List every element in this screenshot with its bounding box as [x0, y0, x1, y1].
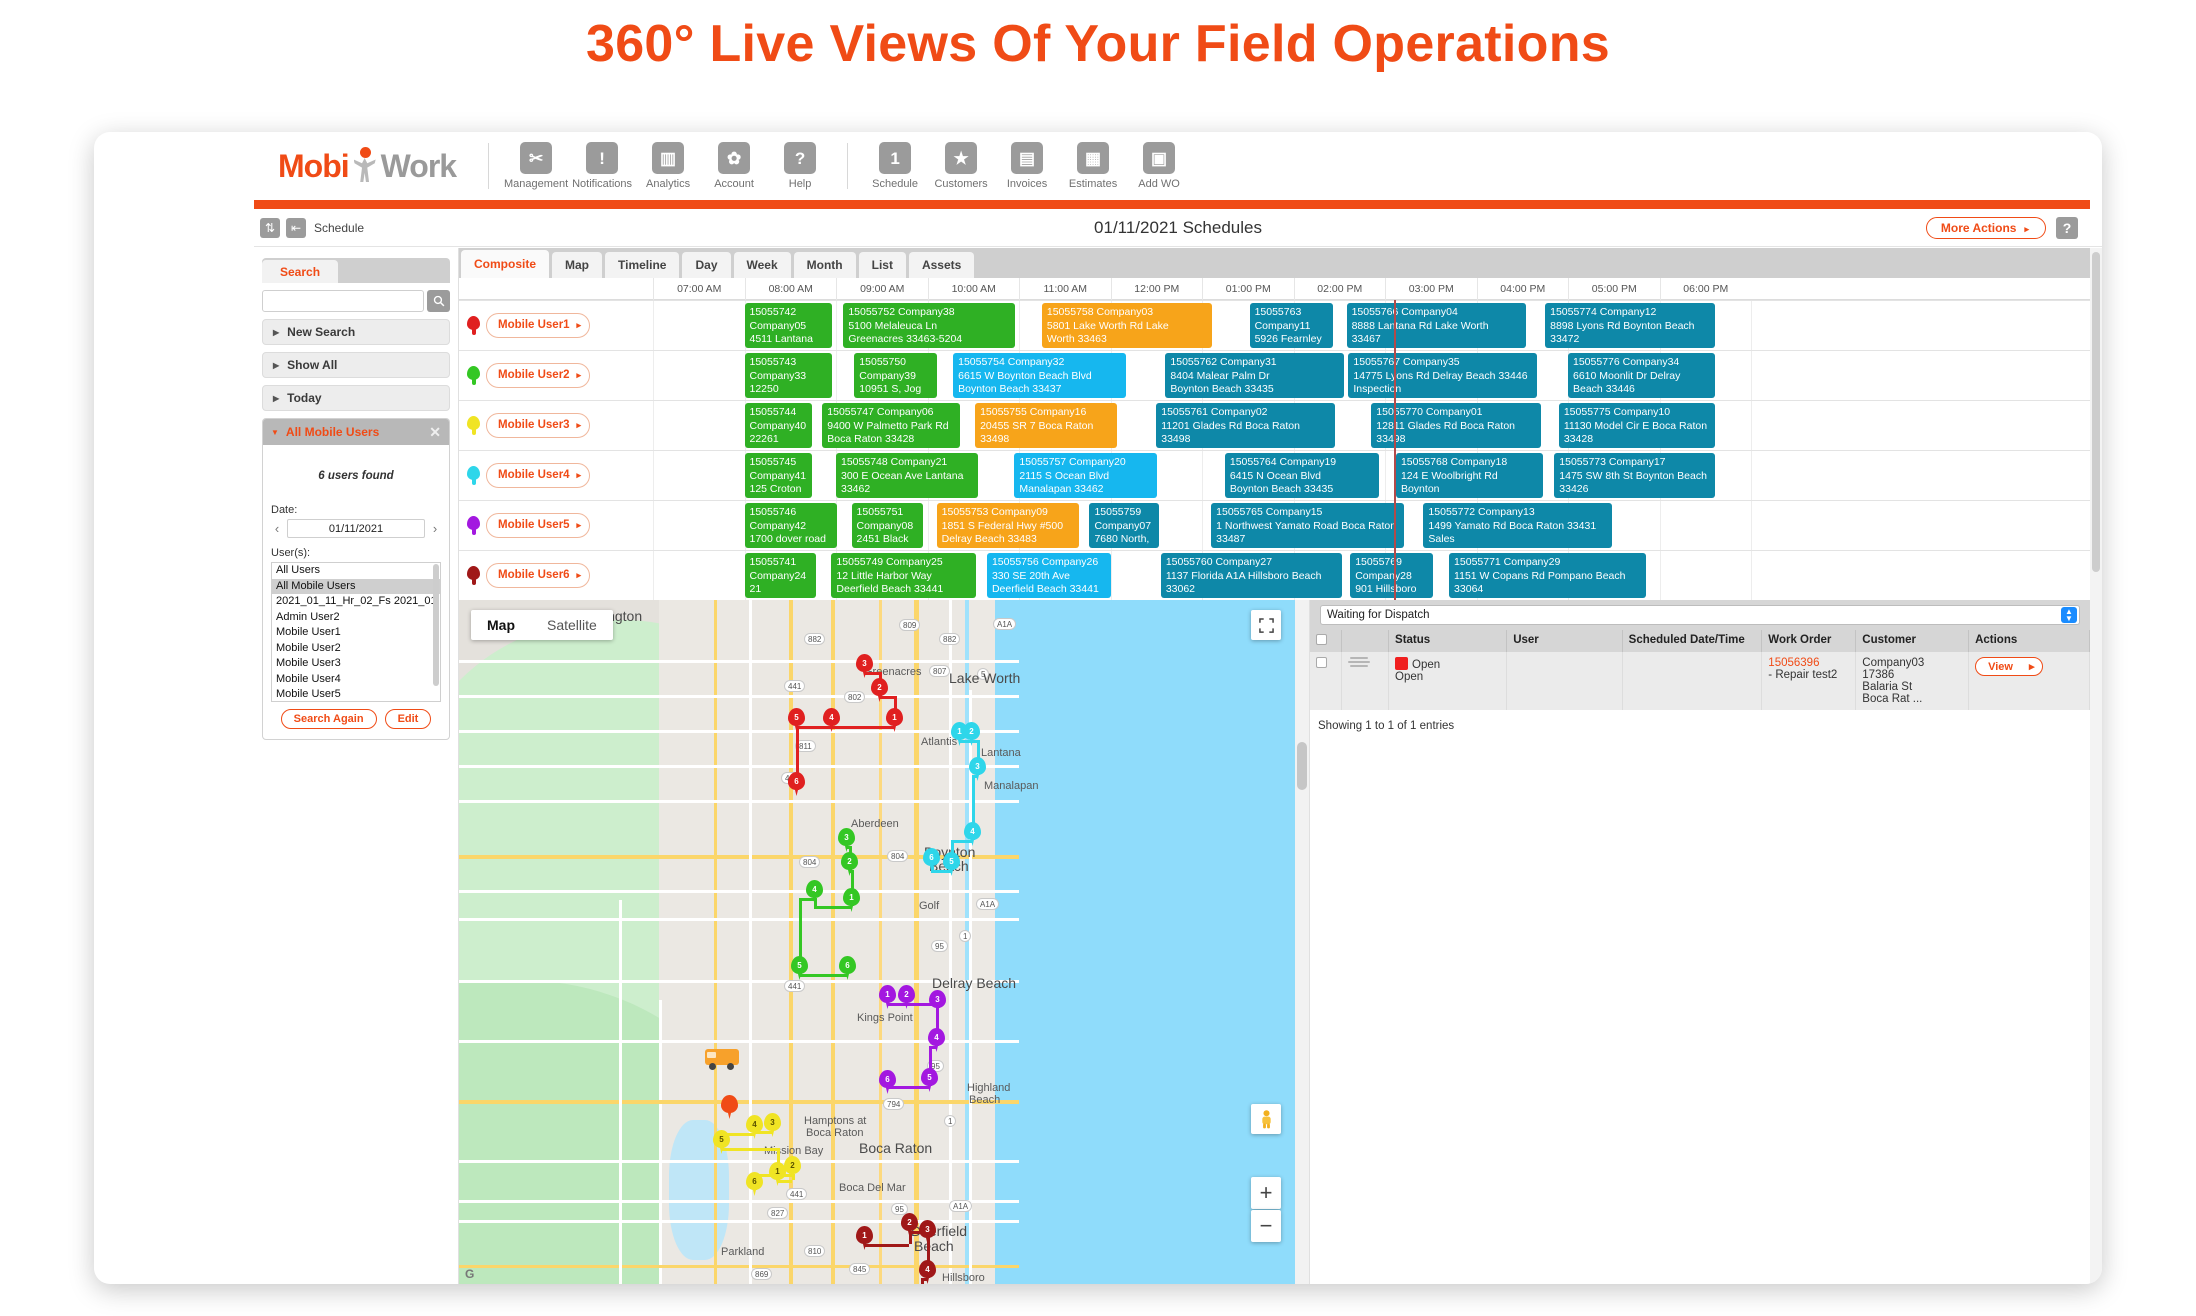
- user-row-header: Mobile User1▸: [459, 300, 607, 350]
- user-button-mobileuser5[interactable]: Mobile User5▸: [486, 513, 590, 538]
- hour-label: 10:00 AM: [928, 278, 1020, 300]
- schedule-block-line: 15055761 Company02: [1161, 406, 1330, 420]
- schedule-block-line: Deerfield Beach 33441: [836, 583, 970, 597]
- pegman-icon[interactable]: [1251, 1104, 1281, 1134]
- nav-item-label: Management: [504, 178, 568, 190]
- nav-group-admin: ✂Management!Notifications▥Analytics✿Acco…: [503, 142, 833, 190]
- map-place-label: Parkland: [721, 1246, 764, 1258]
- map-pin-6[interactable]: 6: [923, 848, 940, 872]
- map-route-shield: 804: [887, 850, 908, 862]
- map-pin-2[interactable]: 2: [784, 1156, 801, 1180]
- user-name: Mobile User4: [498, 469, 570, 481]
- schedule-block-line: 11201 Glades Rd Boca Raton: [1161, 420, 1330, 434]
- zoom-out-button[interactable]: −: [1251, 1210, 1281, 1242]
- schedule-block-line: 15055756 Company26: [992, 556, 1106, 570]
- schedule-block-line: 12 Little Harbor Way: [836, 570, 970, 584]
- schedule-block-line: 1475 SW 8th St Boynton Beach 33426: [1559, 470, 1710, 497]
- schedule-block-15055742[interactable]: 15055742Company054511 Lantana Rd: [745, 303, 833, 348]
- schedule-tabs: CompositeMapTimelineDayWeekMonthListAsse…: [459, 248, 2090, 278]
- search-panel: Search ▶New Search▶Show All▶Today ▼ All …: [254, 248, 459, 1284]
- schedule-block-15055752[interactable]: 15055752 Company385100 Melaleuca LnGreen…: [843, 303, 1015, 348]
- user-button-mobileuser2[interactable]: Mobile User2▸: [486, 363, 590, 388]
- nav-item-invoices[interactable]: ▤Invoices: [994, 142, 1060, 190]
- schedule-block-15055775[interactable]: 15055775 Company1011130 Model Cir E Boca…: [1559, 403, 1715, 448]
- schedule-block-15055751[interactable]: 15055751Company082451 Black: [852, 503, 923, 548]
- schedule-block-15055771[interactable]: 15055771 Company291151 W Copans Rd Pompa…: [1449, 553, 1646, 598]
- map-pin-1[interactable]: 1: [886, 708, 903, 732]
- map-road: [459, 890, 1019, 893]
- schedule-block-line: Beach 33446: [1573, 383, 1710, 397]
- map-pin-2[interactable]: 2: [871, 678, 888, 702]
- more-actions-label: More Actions: [1941, 221, 2017, 235]
- section-header-all-mobile-users[interactable]: ▼ All Mobile Users ✕: [263, 419, 449, 445]
- map-pin-icon: [467, 416, 480, 435]
- map-pin-icon: [467, 316, 480, 335]
- schedule-block-line: 15055751: [857, 506, 918, 520]
- user-option[interactable]: Mobile User1: [272, 625, 440, 641]
- map-route-shield: A1A: [949, 1200, 972, 1212]
- search-again-button[interactable]: Search Again: [281, 709, 377, 729]
- map-pin-3[interactable]: 3: [764, 1113, 781, 1137]
- map-road: [459, 765, 1019, 768]
- map-road: [714, 600, 717, 1284]
- map-pin-6[interactable]: 6: [839, 956, 856, 980]
- nav-item-account[interactable]: ✿Account: [701, 142, 767, 190]
- nav-divider-2: [847, 143, 848, 189]
- tab-map[interactable]: Map: [552, 252, 602, 278]
- user-row-header: Mobile User4▸: [459, 450, 607, 500]
- tab-timeline[interactable]: Timeline: [605, 252, 679, 278]
- dispatch-column-header: [1310, 630, 1342, 652]
- map-pin-3[interactable]: 3: [856, 654, 873, 678]
- map-pin-3[interactable]: 3: [929, 990, 946, 1014]
- map-road: [459, 660, 1019, 663]
- date-prev-icon[interactable]: ‹: [271, 521, 283, 536]
- calculator-icon: ▦: [1077, 142, 1109, 174]
- map-barrier-island: [969, 600, 995, 1284]
- map-pin-3[interactable]: 3: [969, 757, 986, 781]
- map-pin-4[interactable]: 4: [806, 880, 823, 904]
- grid-hline: [459, 400, 2090, 401]
- hour-label: 11:00 AM: [1019, 278, 1111, 300]
- hour-label: 09:00 AM: [836, 278, 928, 300]
- schedule-block-line: 901 Hillsboro Mile: [1355, 583, 1428, 598]
- schedule-block-line: 15055764 Company19: [1230, 456, 1374, 470]
- search-icon[interactable]: [427, 290, 450, 312]
- map-pin-1[interactable]: 1: [843, 888, 860, 912]
- dispatch-column-header: Work Order: [1762, 630, 1856, 652]
- map-road: [459, 730, 1019, 733]
- map-pin-icon: [467, 566, 480, 585]
- map-route-shield: 809: [899, 619, 920, 631]
- schedule-block-line: Inspection: [1353, 383, 1531, 397]
- nav-item-analytics[interactable]: ▥Analytics: [635, 142, 701, 190]
- schedule-block-line: 33498: [1161, 433, 1330, 447]
- map-scrollbar[interactable]: [1295, 600, 1309, 1284]
- triangle-down-icon: ▼: [271, 428, 279, 437]
- schedule-block-line: 15055773 Company17: [1559, 456, 1710, 470]
- map-pin-4[interactable]: 4: [823, 708, 840, 732]
- schedule-block-15055746[interactable]: 15055746Company421700 dover road: [745, 503, 837, 548]
- schedule-block-line: 15055768 Company18: [1401, 456, 1538, 470]
- table-row[interactable]: OpenOpen15056396- Repair test2Company031…: [1310, 652, 2090, 710]
- schedule-block-line: Boca Raton 33428: [827, 433, 955, 447]
- schedule-block-line: 15055770 Company01: [1376, 406, 1536, 420]
- dispatch-column-header: User: [1507, 630, 1622, 652]
- schedule-block-line: 1851 S Federal Hwy #500: [942, 520, 1074, 534]
- schedule-block-line: 8404 Malear Palm Dr: [1170, 370, 1339, 384]
- question-icon: ?: [784, 142, 816, 174]
- schedule-block-line: 12811 Glades Rd Boca Raton: [1376, 420, 1536, 434]
- schedule-block-15055776[interactable]: 15055776 Company346610 Moonlit Dr Delray…: [1568, 353, 1715, 398]
- actions-cell: View▸: [1969, 652, 2090, 710]
- work-order-link[interactable]: 15056396: [1768, 657, 1819, 669]
- accordion-new-search[interactable]: ▶New Search: [262, 319, 450, 345]
- nav-item-label: Estimates: [1069, 178, 1117, 190]
- schedule-block-line: 1499 Yamato Rd Boca Raton 33431: [1428, 520, 1606, 534]
- date-input[interactable]: 01/11/2021: [287, 519, 425, 538]
- schedule-block-15055765[interactable]: 15055765 Company151 Northwest Yamato Roa…: [1211, 503, 1404, 548]
- user-option[interactable]: All Mobile Users: [272, 579, 440, 595]
- schedule-block-15055748[interactable]: 15055748 Company21300 E Ocean Ave Lantan…: [836, 453, 978, 498]
- chevron-right-icon: ▸: [576, 420, 581, 431]
- map-road: [459, 918, 1019, 921]
- schedule-block-line: 15055747 Company06: [827, 406, 955, 420]
- user-option[interactable]: Mobile User4: [272, 672, 440, 688]
- schedule-block-15055754[interactable]: 15055754 Company326615 W Boynton Beach B…: [953, 353, 1126, 398]
- schedule-block-15055772[interactable]: 15055772 Company131499 Yamato Rd Boca Ra…: [1423, 503, 1611, 548]
- map-type-satellite[interactable]: Satellite: [531, 610, 613, 640]
- schedule-block-15055755[interactable]: 15055755 Company1620455 SR 7 Boca Raton3…: [975, 403, 1117, 448]
- schedule-block-line: 15055772 Company13: [1428, 506, 1606, 520]
- map-place-label: Delray Beach: [932, 975, 1016, 991]
- map-pin-6[interactable]: 6: [746, 1172, 763, 1196]
- map-route-shield: 810: [804, 1245, 825, 1257]
- schedule-block-15055764[interactable]: 15055764 Company196415 N Ocean BlvdBoynt…: [1225, 453, 1379, 498]
- schedule-block-line: 5926 Fearnley: [1255, 333, 1328, 347]
- logo-mobi-text: Mobi: [278, 148, 349, 185]
- map-road: [831, 600, 835, 1284]
- schedule-block-15055763[interactable]: 15055763Company115926 Fearnley: [1250, 303, 1333, 348]
- map-place-label: Lake Worth: [949, 670, 1020, 686]
- map-pin-5[interactable]: 5: [791, 956, 808, 980]
- schedule-block-line: Delray Beach 33483: [942, 533, 1074, 547]
- schedule-region: CompositeMapTimelineDayWeekMonthListAsse…: [459, 248, 2090, 600]
- nav-item-schedule[interactable]: 1Schedule: [862, 142, 928, 190]
- tab-list[interactable]: List: [859, 252, 906, 278]
- map-pin-5[interactable]: 5: [788, 708, 805, 732]
- sub-header: ⇅ ⇤ Schedule 01/11/2021 Schedules More A…: [254, 209, 2102, 247]
- schedule-block-line: 15055765 Company15: [1216, 506, 1399, 520]
- schedule-block-15055757[interactable]: 15055757 Company202115 S Ocean BlvdManal…: [1014, 453, 1156, 498]
- schedule-block-15055762[interactable]: 15055762 Company318404 Malear Palm DrBoy…: [1165, 353, 1344, 398]
- schedule-block-15055759[interactable]: 15055759Company077680 North,: [1089, 503, 1158, 548]
- edit-button[interactable]: Edit: [385, 709, 432, 729]
- schedule-block-15055774[interactable]: 15055774 Company128898 Lyons Rd Boynton …: [1545, 303, 1715, 348]
- schedule-block-15055747[interactable]: 15055747 Company069400 W Palmetto Park R…: [822, 403, 960, 448]
- accordion-label: Show All: [287, 358, 337, 372]
- user-button-mobileuser3[interactable]: Mobile User3▸: [486, 413, 590, 438]
- tab-week[interactable]: Week: [734, 252, 791, 278]
- mobiwork-logo[interactable]: Mobi Work: [278, 147, 456, 185]
- date-next-icon[interactable]: ›: [429, 521, 441, 536]
- map-road: [459, 800, 1019, 803]
- map-pin-5[interactable]: 5: [713, 1130, 730, 1154]
- schedule-block-line: 33462: [841, 483, 973, 497]
- map-attribution: G: [465, 1267, 474, 1281]
- schedule-block-15055761[interactable]: 15055761 Company0211201 Glades Rd Boca R…: [1156, 403, 1335, 448]
- schedule-block-line: 10951 S, Jog Rd: [859, 383, 932, 398]
- map-road: [949, 600, 952, 1284]
- map-view[interactable]: 882809882A1A8075441802811441804804A1A195…: [459, 600, 1295, 1284]
- tab-search[interactable]: Search: [262, 260, 338, 283]
- map-route-shield: 827: [767, 1207, 788, 1219]
- nav-item-notifications[interactable]: !Notifications: [569, 142, 635, 190]
- app-window: Mobi Work ✂Management!Notifications▥Anal…: [94, 132, 2102, 1284]
- schedule-block-line: 5100 Melaleuca Ln: [848, 320, 1010, 334]
- tab-assets[interactable]: Assets: [909, 252, 974, 278]
- map-place-label: Boca Del Mar: [839, 1182, 906, 1194]
- schedule-block-line: 15055749 Company25: [836, 556, 970, 570]
- dispatch-toolbar: Waiting for Dispatch ▲▼: [1310, 600, 2090, 630]
- schedule-block-15055766[interactable]: 15055766 Company048888 Lantana Rd Lake W…: [1347, 303, 1526, 348]
- map-pin-2[interactable]: 2: [898, 985, 915, 1009]
- orange-accent-rule: [254, 200, 2090, 209]
- schedule-block-line: 15055774 Company12: [1550, 306, 1710, 320]
- nav-item-label: Add WO: [1138, 178, 1180, 190]
- schedule-block-line: Beach 33435: [1401, 497, 1538, 499]
- map-pin-2[interactable]: 2: [963, 722, 980, 746]
- logo-work-text: Work: [381, 148, 456, 185]
- nav-item-management[interactable]: ✂Management: [503, 142, 569, 190]
- schedule-block-15055767[interactable]: 15055767 Company3514775 Lyons Rd Delray …: [1348, 353, 1536, 398]
- schedule-block-15055744[interactable]: 15055744Company4022261: [745, 403, 812, 448]
- row-checkbox[interactable]: [1316, 657, 1327, 668]
- schedule-block-line: 15055767 Company35: [1353, 356, 1531, 370]
- hour-label: 01:00 PM: [1202, 278, 1294, 300]
- schedule-block-line: 15055755 Company16: [980, 406, 1112, 420]
- tab-month[interactable]: Month: [794, 252, 856, 278]
- accordion-label: New Search: [287, 325, 355, 339]
- map-route-shield: 882: [939, 633, 960, 645]
- user-option[interactable]: All Users: [272, 563, 440, 579]
- close-icon[interactable]: ✕: [429, 424, 441, 441]
- nav-item-add-wo[interactable]: ▣Add WO: [1126, 142, 1192, 190]
- schedule-block-line: 15055759: [1094, 506, 1153, 520]
- schedule-block-line: Company11: [1255, 320, 1328, 334]
- clipboard-plus-icon: ▣: [1143, 142, 1175, 174]
- schedule-grid: 07:00 AM08:00 AM09:00 AM10:00 AM11:00 AM…: [459, 278, 2090, 600]
- schedule-block-line: Company40: [750, 420, 807, 434]
- schedule-block-line: Inspection: [1454, 597, 1641, 599]
- truck-icon[interactable]: [705, 1045, 739, 1071]
- schedule-block-line: 6610 Moonlit Dr Delray: [1573, 370, 1710, 384]
- map-pin-2[interactable]: 2: [901, 1213, 918, 1237]
- help-button[interactable]: ?: [2056, 217, 2078, 239]
- schedule-block-line: 15055742: [750, 306, 828, 320]
- schedule-block-line: 1137 Florida A1A Hillsboro Beach: [1166, 570, 1337, 584]
- map-route-shield: 869: [751, 1268, 772, 1280]
- schedule-block-line: 1700 dover road: [750, 533, 832, 547]
- search-row: [262, 290, 450, 312]
- user-option[interactable]: Mobile User5: [272, 687, 440, 702]
- user-row-header: Mobile User5▸: [459, 500, 607, 550]
- nav-item-label: Analytics: [646, 178, 690, 190]
- nav-item-estimates[interactable]: ▦Estimates: [1060, 142, 1126, 190]
- schedule-block-line: 125 Croton: [750, 483, 807, 497]
- alert-icon: !: [586, 142, 618, 174]
- schedule-block-line: 15055741: [750, 556, 811, 570]
- dispatch-table-header: StatusUserScheduled Date/TimeWork OrderC…: [1310, 630, 2090, 652]
- schedule-block-line: Manalapan 33462: [1019, 483, 1151, 497]
- map-road: [459, 1100, 1019, 1104]
- map-place-label: Manalapan: [984, 780, 1038, 792]
- schedule-block-15055753[interactable]: 15055753 Company091851 S Federal Hwy #50…: [937, 503, 1079, 548]
- customer-cell: Company0317386Balaria StBoca Rat ...: [1856, 652, 1969, 710]
- status-text: Open: [1395, 671, 1423, 683]
- triangle-right-icon: ▶: [273, 361, 279, 370]
- schedule-block-15055749[interactable]: 15055749 Company2512 Little Harbor WayDe…: [831, 553, 975, 598]
- grid-hline: [459, 450, 2090, 451]
- map-pin-4[interactable]: 4: [919, 1260, 936, 1284]
- accordion-today[interactable]: ▶Today: [262, 385, 450, 411]
- nav-item-help[interactable]: ?Help: [767, 142, 833, 190]
- schedule-block-15055750[interactable]: 15055750Company3910951 S, Jog Rd: [854, 353, 937, 398]
- map-pin-6[interactable]: 6: [879, 1070, 896, 1094]
- map-road: [459, 1200, 1019, 1203]
- schedule-block-15055756[interactable]: 15055756 Company26330 SE 20th AveDeerfie…: [987, 553, 1111, 598]
- page-scrollbar-thumb[interactable]: [2092, 252, 2100, 572]
- map-pin-3[interactable]: 3: [838, 828, 855, 852]
- more-actions-button[interactable]: More Actions▸: [1926, 217, 2046, 239]
- user-option[interactable]: Mobile User2: [272, 641, 440, 657]
- map-road: [914, 600, 919, 1284]
- map-type-map[interactable]: Map: [471, 610, 531, 640]
- map-route-shield: 802: [844, 691, 865, 703]
- map-pin-2[interactable]: 2: [841, 852, 858, 876]
- tools-icon: ✂: [520, 142, 552, 174]
- accordion-show-all[interactable]: ▶Show All: [262, 352, 450, 378]
- accordion-label: Today: [287, 391, 321, 405]
- hour-label: 03:00 PM: [1385, 278, 1477, 300]
- schedule-block-line: 15055760 Company27: [1166, 556, 1337, 570]
- schedule-block-line: 22261: [750, 433, 807, 447]
- dispatch-column-header: [1342, 630, 1389, 652]
- schedule-block-15055769[interactable]: 15055769Company28901 Hillsboro Mile: [1350, 553, 1433, 598]
- map-pin-4[interactable]: 4: [964, 822, 981, 846]
- schedule-block-line: 300 E Ocean Ave Lantana: [841, 470, 973, 484]
- user-button-mobileuser1[interactable]: Mobile User1▸: [486, 313, 590, 338]
- schedule-block-15055743[interactable]: 15055743Company3312250: [745, 353, 833, 398]
- date-label: Date:: [271, 504, 441, 516]
- map-scrollbar-thumb[interactable]: [1297, 742, 1307, 790]
- tab-composite[interactable]: Composite: [461, 250, 549, 278]
- drag-handle-icon[interactable]: [1348, 657, 1370, 668]
- status-badge: [1395, 657, 1408, 670]
- schedule-block-line: 15055776 Company34: [1573, 356, 1710, 370]
- select-all-checkbox[interactable]: [1316, 634, 1327, 645]
- map-pin-6[interactable]: 6: [788, 772, 805, 796]
- schedule-block-15055745[interactable]: 15055745Company41125 Croton: [745, 453, 812, 498]
- map-pin-1[interactable]: 1: [856, 1226, 873, 1250]
- map-pin-4[interactable]: 4: [928, 1028, 945, 1052]
- schedule-block-15055741[interactable]: 15055741Company2421 Richmond: [745, 553, 816, 598]
- page-scrollbar[interactable]: [2090, 248, 2102, 1284]
- map-pin-5[interactable]: 5: [921, 1068, 938, 1092]
- user-button-mobileuser4[interactable]: Mobile User4▸: [486, 463, 590, 488]
- view-button[interactable]: View▸: [1975, 657, 2043, 676]
- schedule-block-line: 1 Northwest Yamato Road Boca Raton: [1216, 520, 1399, 534]
- tab-day[interactable]: Day: [682, 252, 730, 278]
- schedule-block-15055773[interactable]: 15055773 Company171475 SW 8th St Boynton…: [1554, 453, 1715, 498]
- chevron-right-icon: ▸: [576, 370, 581, 381]
- user-option[interactable]: Mobile User3: [272, 656, 440, 672]
- work-order-cell: 15056396- Repair test2: [1762, 652, 1856, 710]
- nav-item-label: Notifications: [572, 178, 632, 190]
- map-pin-5[interactable]: 5: [943, 852, 960, 876]
- dispatch-filter-select[interactable]: Waiting for Dispatch ▲▼: [1320, 605, 2080, 625]
- schedule-block-15055770[interactable]: 15055770 Company0112811 Glades Rd Boca R…: [1371, 403, 1541, 448]
- user-row-header: Mobile User3▸: [459, 400, 607, 450]
- schedule-block-line: 15055762 Company31: [1170, 356, 1339, 370]
- map-pin-icon: [467, 466, 480, 485]
- schedule-block-line: 21 Richmond: [750, 583, 811, 598]
- map-route-shield: 441: [784, 680, 805, 692]
- search-input[interactable]: [262, 290, 424, 312]
- user-option[interactable]: Admin User2: [272, 610, 440, 626]
- map-place-label: Boca Raton: [859, 1140, 932, 1156]
- dispatch-table-body: OpenOpen15056396- Repair test2Company031…: [1310, 652, 2090, 710]
- map-pin-1[interactable]: 1: [879, 985, 896, 1009]
- schedule-block-15055768[interactable]: 15055768 Company18124 E Woolbright Rd Bo…: [1396, 453, 1543, 498]
- map-place-label: Aberdeen: [851, 818, 899, 830]
- chevron-right-icon: ▸: [576, 520, 581, 531]
- nav-divider: [488, 143, 489, 189]
- map-pin-orange-marker[interactable]: [721, 1095, 738, 1119]
- schedule-block-15055760[interactable]: 15055760 Company271137 Florida A1A Hills…: [1161, 553, 1342, 598]
- schedule-block-line: 8888 Lantana Rd Lake Worth 33467: [1352, 320, 1521, 347]
- schedule-block-line: 15055750: [859, 356, 932, 370]
- schedule-block-15055758[interactable]: 15055758 Company035801 Lake Worth Rd Lak…: [1042, 303, 1212, 348]
- map-pin-4[interactable]: 4: [746, 1115, 763, 1139]
- user-button-mobileuser6[interactable]: Mobile User6▸: [486, 563, 590, 588]
- nav-item-label: Customers: [934, 178, 987, 190]
- hour-label: 07:00 AM: [653, 278, 745, 300]
- nav-item-customers[interactable]: ★Customers: [928, 142, 994, 190]
- section-body: 6 users found Date: ‹ 01/11/2021 › User(…: [263, 445, 449, 739]
- person-star-icon: ★: [945, 142, 977, 174]
- stepper-icon[interactable]: ▲▼: [2061, 607, 2077, 623]
- map-pin-3[interactable]: 3: [919, 1220, 936, 1244]
- user-option[interactable]: 2021_01_11_Hr_02_Fs 2021_01: [272, 594, 440, 610]
- schedule-block-line: Boynton Beach 33435: [1170, 383, 1339, 397]
- users-listbox[interactable]: All UsersAll Mobile Users2021_01_11_Hr_0…: [271, 562, 441, 702]
- fullscreen-icon[interactable]: [1251, 610, 1281, 640]
- users-list-scrollbar[interactable]: [433, 564, 439, 686]
- schedule-block-line: Boynton Beach 33435: [1230, 483, 1374, 497]
- dispatch-table: StatusUserScheduled Date/TimeWork OrderC…: [1310, 630, 2090, 710]
- schedule-block-line: Boynton Beach 33437: [958, 383, 1121, 397]
- zoom-in-button[interactable]: +: [1251, 1177, 1281, 1209]
- chevron-right-icon: ▸: [576, 470, 581, 481]
- triangle-right-icon: ▶: [273, 328, 279, 337]
- all-mobile-users-section: ▼ All Mobile Users ✕ 6 users found Date:…: [262, 418, 450, 740]
- map-place-label: Boca Raton: [806, 1127, 863, 1139]
- schedule-block-line: 33062: [1166, 583, 1337, 597]
- map-route-segment: [831, 726, 894, 729]
- users-found-text: 6 users found: [271, 470, 441, 482]
- schedule-block-line: 15055752 Company38: [848, 306, 1010, 320]
